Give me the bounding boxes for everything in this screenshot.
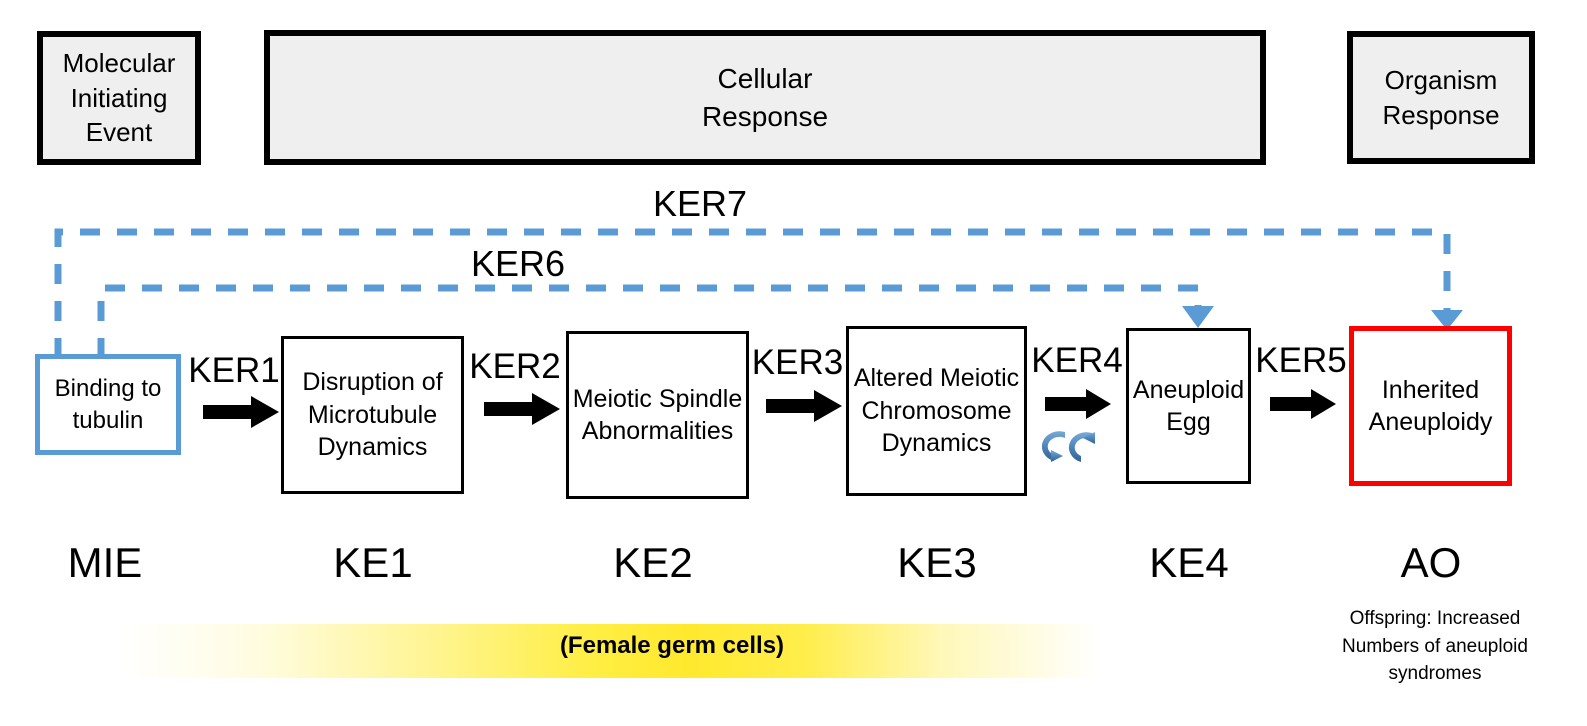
- female-germ-cell-label: (Female germ cells): [472, 634, 872, 658]
- ker5-label: KER5: [1253, 343, 1349, 378]
- stage-label-ao: AO: [1351, 542, 1511, 584]
- stage-label-ke1: KE1: [293, 542, 453, 584]
- ker6-label: KER6: [418, 246, 618, 282]
- ker2-label: KER2: [466, 349, 564, 384]
- ker3-label: KER3: [749, 345, 846, 380]
- right-arrow-icon-ker4: [1045, 389, 1111, 419]
- stage-label-ke2: KE2: [573, 542, 733, 584]
- stage-label-mie: MIE: [25, 542, 185, 584]
- node-box-ke3-altered-meiotic-chromosome-dynamics[interactable]: Altered Meiotic Chromosome Dynamics: [846, 326, 1027, 496]
- aop-diagram-canvas: Molecular Initiating Event Cellular Resp…: [0, 0, 1587, 726]
- band-cellular-response: Cellular Response: [264, 30, 1266, 165]
- right-arrow-icon-ker1: [203, 396, 279, 428]
- ker4-label: KER4: [1029, 343, 1125, 378]
- ker6-arrowhead: [1182, 306, 1214, 328]
- node-box-ke2-meiotic-spindle-abnormalities[interactable]: Meiotic Spindle Abnormalities: [566, 331, 749, 499]
- band-organism-response: Organism Response: [1347, 31, 1535, 164]
- node-box-ke1-disruption-of-microtubule-dynamics[interactable]: Disruption of Microtubule Dynamics: [281, 336, 464, 494]
- stage-label-ke3: KE3: [857, 542, 1017, 584]
- node-box-ao-inherited-aneuploidy[interactable]: Inherited Aneuploidy: [1349, 326, 1512, 486]
- ker1-label: KER1: [186, 353, 282, 388]
- right-arrow-icon-ker3: [766, 390, 842, 422]
- ker7-label: KER7: [600, 186, 800, 222]
- right-arrow-icon-ker2: [484, 393, 560, 425]
- stage-label-ke4: KE4: [1109, 542, 1269, 584]
- node-box-mie-binding-to-tubulin[interactable]: Binding to tubulin: [35, 354, 181, 455]
- offspring-outcome-note: Offspring: Increased Numbers of aneuploi…: [1330, 605, 1540, 688]
- node-box-ke4-aneuploid-egg[interactable]: Aneuploid Egg: [1126, 328, 1251, 484]
- right-arrow-icon-ker5: [1270, 389, 1336, 419]
- band-molecular-initiating-event: Molecular Initiating Event: [37, 31, 201, 165]
- circular-arrows-icon: [1042, 430, 1104, 464]
